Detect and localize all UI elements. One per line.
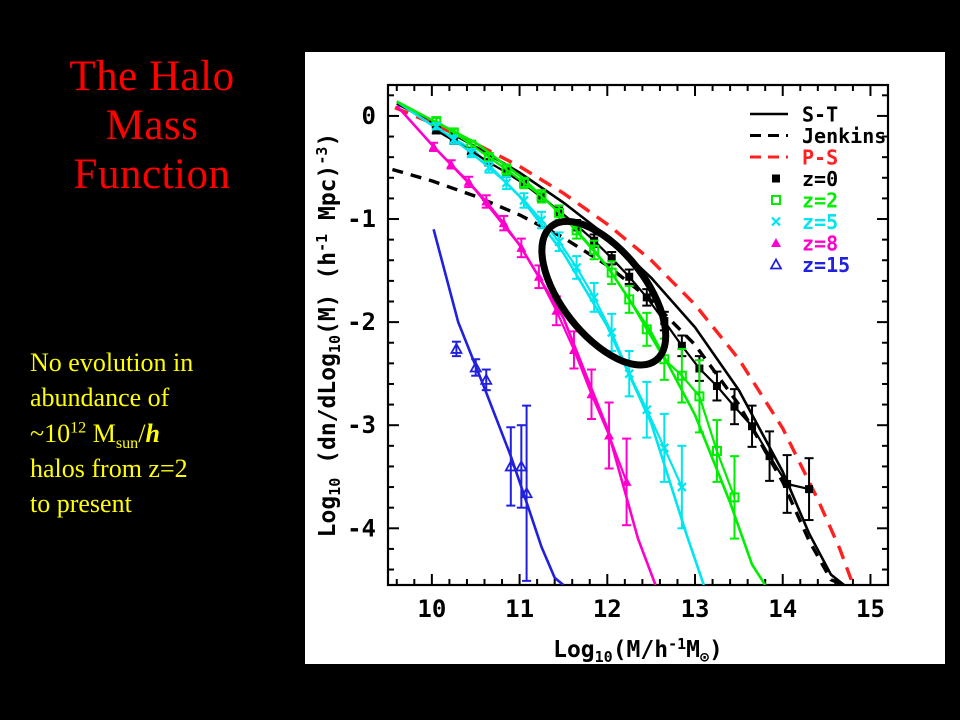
- x-axis-tick-label: 11: [505, 595, 534, 623]
- marker-filled-square: [805, 485, 813, 493]
- legend-label: P-S: [802, 146, 838, 170]
- body-line-3-subscript: sun: [116, 435, 138, 452]
- series-z=2: [432, 117, 739, 539]
- marker-filled-square: [713, 382, 721, 390]
- marker-filled-square: [625, 273, 633, 281]
- body-text: No evolution in abundance of ~1012 Msun/…: [30, 345, 288, 522]
- body-line-3: ~1012 Msun/h: [30, 416, 288, 451]
- series-z=15: [451, 342, 531, 581]
- marker-filled-square: [643, 293, 651, 301]
- series-z=0: [432, 126, 814, 520]
- marker-filled-triangle: [587, 389, 597, 398]
- body-line-2: abundance of: [30, 380, 288, 415]
- legend-label: z=0: [802, 167, 838, 191]
- y-axis-tick-label: -3: [347, 411, 376, 439]
- body-line-1: No evolution in: [30, 345, 288, 380]
- marker-open-triangle: [771, 260, 781, 269]
- y-axis-tick-label: -2: [347, 308, 376, 336]
- body-line-3-h: h: [145, 419, 159, 448]
- legend-label: S-T: [802, 103, 838, 127]
- chart-legend: S-TJenkinsP-Sz=0z=2z=5z=8z=15: [750, 103, 886, 278]
- series-curve-z=2-curve: [397, 102, 765, 586]
- data-layer: [392, 102, 851, 586]
- y-axis-title: Log10 (dn/dLog10(M) (h-1 Mpc)-3): [313, 133, 344, 538]
- legend-label: z=8: [802, 232, 838, 256]
- halo-mass-function-chart: 1011121314150-1-2-3-4Log10(M/h-1M⊙)Log10…: [305, 52, 945, 664]
- marker-filled-square: [748, 422, 756, 430]
- legend-label: z=2: [802, 189, 838, 213]
- marker-filled-square: [766, 452, 774, 460]
- series-line-z=0: [436, 130, 809, 489]
- x-axis-title: Log10(M/h-1M⊙): [553, 635, 723, 664]
- title-line-3: Function: [18, 150, 286, 199]
- y-axis-tick-label: -4: [347, 514, 376, 542]
- marker-filled-triangle: [771, 238, 781, 247]
- marker-open-square: [772, 196, 780, 204]
- legend-label: Jenkins: [802, 124, 886, 148]
- title-line-2: Mass: [18, 101, 286, 150]
- slide-root: The Halo Mass Function No evolution in a…: [0, 0, 960, 720]
- marker-cross: [772, 218, 780, 226]
- body-line-5: to present: [30, 486, 288, 521]
- x-axis-tick-label: 13: [681, 595, 710, 623]
- series-z=8: [429, 142, 632, 525]
- legend-label: z=15: [802, 253, 850, 277]
- x-axis-tick-label: 12: [593, 595, 622, 623]
- marker-filled-square: [730, 403, 738, 411]
- body-line-3-pre: ~10: [30, 419, 70, 448]
- title-line-1: The Halo: [18, 52, 286, 101]
- marker-filled-triangle: [604, 431, 614, 440]
- marker-filled-triangle: [569, 345, 579, 354]
- marker-filled-square: [783, 480, 791, 488]
- y-axis-tick-label: 0: [362, 102, 376, 130]
- figure-panel: 1011121314150-1-2-3-4Log10(M/h-1M⊙)Log10…: [305, 52, 945, 664]
- body-line-3-exponent: 12: [70, 419, 86, 436]
- series-line-z=8: [434, 147, 627, 482]
- series-line-z=2: [436, 121, 734, 497]
- legend-label: z=5: [802, 210, 838, 234]
- x-axis-tick-label: 10: [417, 595, 446, 623]
- body-line-3-mid: M: [86, 419, 116, 448]
- page-title: The Halo Mass Function: [18, 52, 286, 199]
- marker-filled-square: [772, 175, 780, 183]
- x-axis-tick-label: 15: [856, 595, 885, 623]
- y-axis-tick-label: -1: [347, 205, 376, 233]
- series-curve-z=15-curve: [434, 229, 564, 585]
- body-line-4: halos from z=2: [30, 451, 288, 486]
- x-axis-tick-label: 14: [768, 595, 797, 623]
